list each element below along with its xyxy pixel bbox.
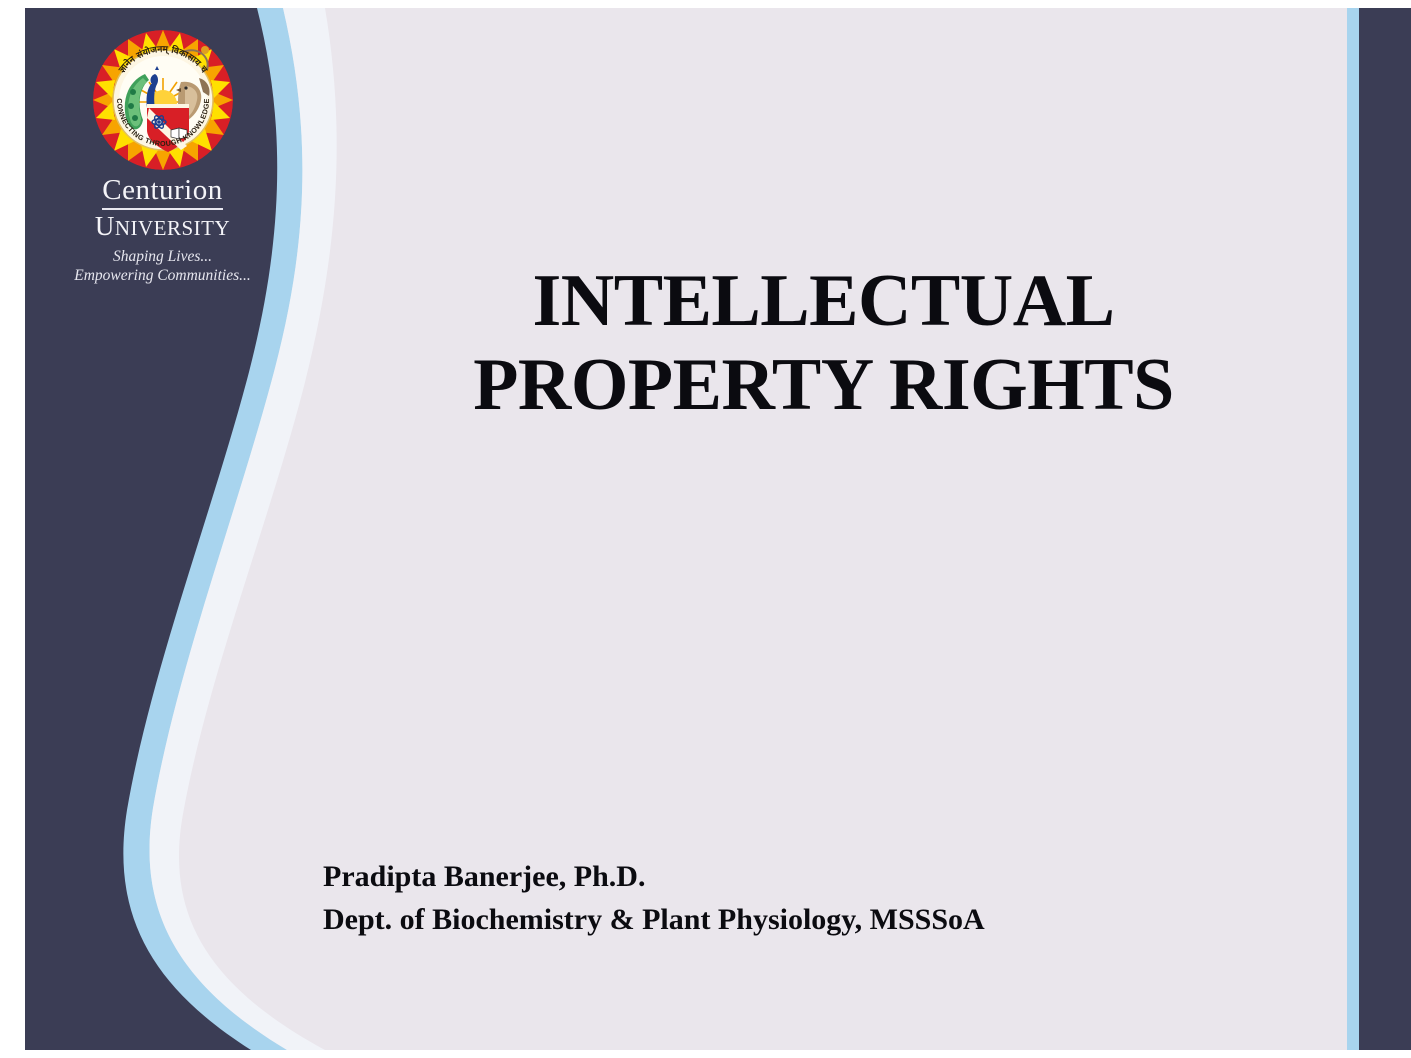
presentation-slide: ज्ञानेन संयोजनम् विकासाय च CONNECTING TH… — [0, 0, 1411, 1058]
university-tagline-1: Shaping Lives... — [55, 247, 270, 266]
university-name-primary: Centurion — [55, 176, 270, 210]
university-logo-block: ज्ञानेन संयोजनम् विकासाय च CONNECTING TH… — [55, 30, 270, 286]
presenter-name: Pradipta Banerjee, Ph.D. — [323, 856, 1223, 899]
university-name-line2: UNIVERSITY — [55, 212, 270, 240]
university-name-line2-initial: U — [95, 211, 115, 241]
university-seal-icon: ज्ञानेन संयोजनम् विकासाय च CONNECTING TH… — [93, 30, 233, 170]
university-name-line1: Centurion — [102, 176, 223, 210]
slide-title: INTELLECTUAL PROPERTY RIGHTS — [336, 260, 1311, 427]
presenter-affiliation: Dept. of Biochemistry & Plant Physiology… — [323, 899, 1223, 942]
university-tagline-2: Empowering Communities... — [55, 266, 270, 285]
slide-canvas: ज्ञानेन संयोजनम् विकासाय च CONNECTING TH… — [25, 8, 1411, 1050]
presenter-block: Pradipta Banerjee, Ph.D. Dept. of Bioche… — [323, 856, 1223, 941]
university-name-line2-rest: NIVERSITY — [115, 216, 230, 240]
